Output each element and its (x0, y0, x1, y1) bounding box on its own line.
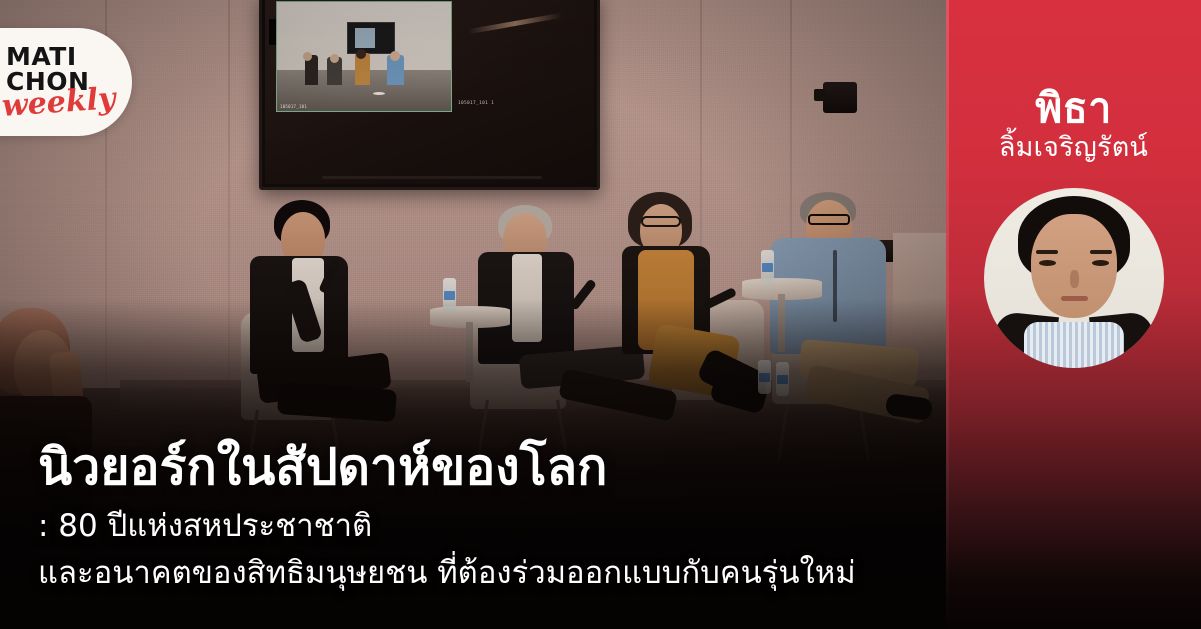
wall-speaker-icon (823, 82, 857, 113)
panelist-shirt (512, 254, 542, 342)
guest-first-name: พิธา (946, 88, 1201, 130)
logo-line-1: MATI (6, 45, 118, 69)
headline-block: นิวยอร์กในสัปดาห์ของโลก : 80 ปีแห่งสหประ… (38, 438, 856, 593)
video-feed-window: 105017_101 (276, 1, 452, 112)
water-bottle (776, 362, 789, 396)
side-table-stem (778, 294, 785, 352)
tv-cable (322, 176, 542, 179)
logo-script-weekly: weekly (1, 84, 119, 122)
feed-person-head (390, 51, 400, 61)
feed-person-head (330, 54, 339, 63)
logo-inner: MATI CHON weekly (6, 45, 118, 122)
water-bottle (758, 360, 771, 394)
water-bottle (761, 250, 774, 284)
portrait-nose (1070, 270, 1079, 288)
guest-portrait-avatar (984, 188, 1164, 368)
headline-sub-1: : 80 ปีแห่งสหประชาชาติ (38, 506, 856, 546)
portrait-face (1031, 214, 1117, 318)
headline-sub-2: และอนาคตของสิทธิมนุษยชน ที่ต้องร่วมออกแบ… (38, 553, 856, 593)
headline-main: นิวยอร์กในสัปดาห์ของโลก (38, 438, 856, 496)
eyeglasses-icon (641, 216, 681, 227)
feed-side-table (373, 92, 385, 95)
feed-timecode-right: 105017_101 1 (458, 101, 494, 106)
guest-red-panel: พิธา ลิ้มเจริญรัตน์ (946, 0, 1201, 629)
portrait-brow (1036, 250, 1058, 254)
guest-last-name: ลิ้มเจริญรัตน์ (946, 132, 1201, 163)
portrait-eye (1039, 260, 1056, 266)
feed-inner-tv-screen (355, 28, 375, 48)
guest-name-block: พิธา ลิ้มเจริญรัตน์ (946, 88, 1201, 163)
portrait-brow (1090, 250, 1112, 254)
feed-person-head (303, 52, 312, 61)
water-bottle (443, 278, 456, 312)
side-table-stem (466, 322, 473, 382)
banner-canvas: 105017_101 105017_101 1 (0, 0, 1201, 629)
lanyard (833, 250, 837, 322)
feed-inner-tv (347, 22, 395, 54)
matichon-weekly-logo[interactable]: MATI CHON weekly (0, 28, 132, 136)
portrait-shirt (1024, 322, 1124, 368)
feed-timecode-left: 105017_101 (280, 104, 307, 109)
wall-television: 105017_101 105017_101 1 (259, 0, 600, 190)
feed-person-head (356, 49, 366, 59)
portrait-eye (1092, 260, 1109, 266)
portrait-mouth (1061, 296, 1088, 301)
eyeglasses-icon (808, 214, 850, 225)
